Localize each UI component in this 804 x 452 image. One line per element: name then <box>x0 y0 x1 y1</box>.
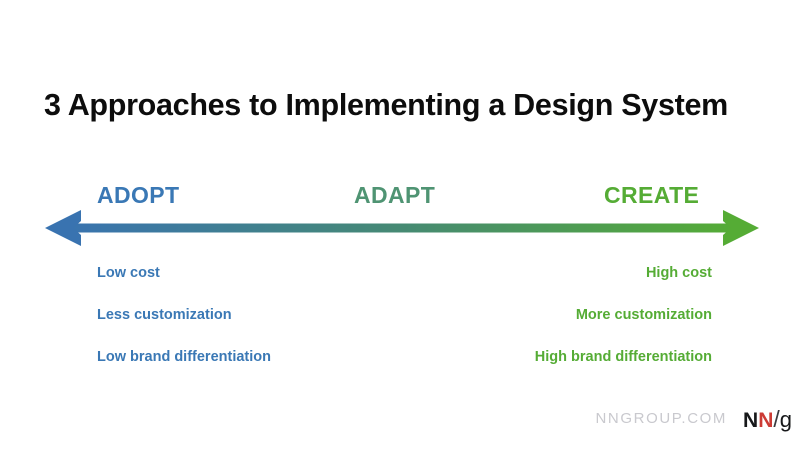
nng-logo: NN/g <box>743 405 792 435</box>
attributes-right-column: High cost More customization High brand … <box>535 252 712 378</box>
footer-website-label: NNGROUP.COM <box>596 410 728 427</box>
logo-letter-g: g <box>780 407 792 432</box>
double-arrow-icon <box>40 204 764 252</box>
attribute-item: More customization <box>535 294 712 336</box>
attribute-item: Less customization <box>97 294 271 336</box>
attribute-item: Low cost <box>97 252 271 294</box>
spectrum-arrow <box>40 204 764 252</box>
logo-letter-n-second: N <box>758 409 773 432</box>
attributes-left-column: Low cost Less customization Low brand di… <box>97 252 271 378</box>
page-title: 3 Approaches to Implementing a Design Sy… <box>44 86 760 124</box>
logo-letter-n-first: N <box>743 409 758 432</box>
attribute-item: High cost <box>535 252 712 294</box>
footer: NNGROUP.COM NN/g <box>0 405 804 439</box>
slide-canvas: 3 Approaches to Implementing a Design Sy… <box>0 0 804 452</box>
attribute-item: Low brand differentiation <box>97 336 271 378</box>
attribute-item: High brand differentiation <box>535 336 712 378</box>
